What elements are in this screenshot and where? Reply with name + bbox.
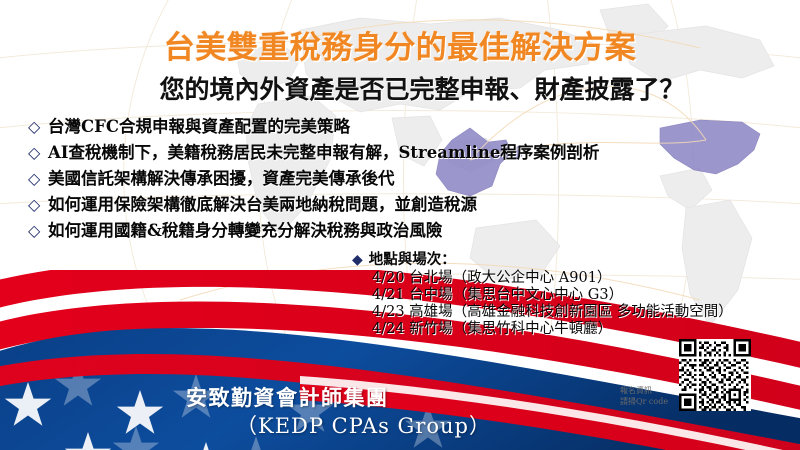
list-item-label: 美國信託架構解決傳承困擾，資產完美傳承後代 — [48, 168, 395, 190]
page-subtitle: 您的境內外資產是否已完整申報、財產披露了？ — [0, 70, 800, 106]
diamond-filled-icon: ◆ — [352, 252, 363, 268]
schedule-block: ◆ 地點與場次： 4/20 台北場（政大公企中心 A901） 4/21 台中場（… — [352, 248, 733, 338]
qr-code-caption: 報名資訊 請掃Qr code — [620, 386, 668, 407]
list-item-label: 如何運用保險架構徹底解決台美兩地納稅問題，並創造稅源 — [48, 194, 477, 216]
list-item: ◇ 如何運用國籍&稅籍身分轉變充分解決稅務與政治風險 — [28, 220, 688, 243]
diamond-outline-icon: ◇ — [28, 142, 48, 164]
qr-caption-line-1: 報名資訊 — [620, 386, 668, 397]
schedule-session: 4/21 台中場（集思台中文心中心 G3） — [372, 287, 733, 304]
qr-caption-line-2: 請掃Qr code — [620, 397, 668, 408]
diamond-outline-icon: ◇ — [28, 116, 48, 138]
schedule-heading-label: 地點與場次： — [369, 248, 456, 269]
schedule-session: 4/23 高雄場（高雄金融科技創新園區 多功能活動空間） — [372, 304, 733, 321]
list-item-label: 如何運用國籍&稅籍身分轉變充分解決稅務與政治風險 — [48, 220, 442, 242]
list-item: ◇ 美國信託架構解決傳承困擾，資產完美傳承後代 — [28, 168, 688, 191]
schedule-session: 4/20 台北場（政大公企中心 A901） — [372, 270, 733, 287]
feature-bullet-list: ◇ 台灣CFC合規申報與資產配置的完美策略 ◇ AI查稅機制下，美籍稅務居民未完… — [28, 116, 688, 246]
list-item-label: AI查稅機制下，美籍稅務居民未完整申報有解，Streamline程序案例剖析 — [48, 142, 599, 164]
diamond-outline-icon: ◇ — [28, 220, 48, 242]
qr-code[interactable] — [679, 339, 751, 411]
list-item: ◇ 如何運用保險架構徹底解決台美兩地納稅問題，並創造稅源 — [28, 194, 688, 217]
list-item: ◇ 台灣CFC合規申報與資產配置的完美策略 — [28, 116, 688, 139]
poster-root: 台美雙重稅務身分的最佳解決方案 您的境內外資產是否已完整申報、財產披露了？ ◇ … — [0, 0, 800, 450]
list-item: ◇ AI查稅機制下，美籍稅務居民未完整申報有解，Streamline程序案例剖析 — [28, 142, 688, 165]
list-item-label: 台灣CFC合規申報與資產配置的完美策略 — [48, 116, 350, 138]
schedule-session: 4/24 新竹場（集思竹科中心牛頓廳） — [372, 321, 733, 338]
schedule-heading-row: ◆ 地點與場次： — [352, 248, 733, 269]
page-title: 台美雙重稅務身分的最佳解決方案 — [0, 22, 800, 67]
diamond-outline-icon: ◇ — [28, 168, 48, 190]
qr-code-icon[interactable] — [679, 339, 751, 411]
diamond-outline-icon: ◇ — [28, 194, 48, 216]
